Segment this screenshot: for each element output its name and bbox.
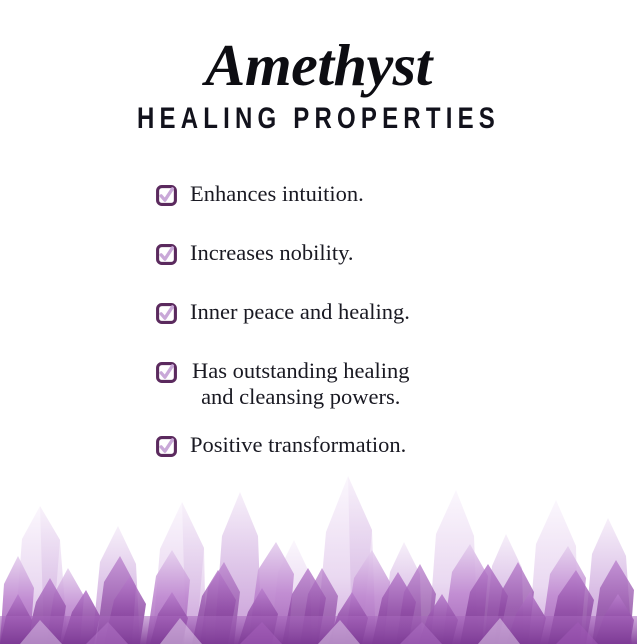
poster-canvas: Amethyst HEALING PROPERTIES Enhances int… <box>0 0 637 644</box>
list-item[interactable]: Increases nobility. <box>156 240 556 266</box>
checkbox-checked-icon[interactable] <box>156 185 177 206</box>
amethyst-crystal-cluster-image <box>0 444 637 644</box>
list-item-label: Increases nobility. <box>190 240 354 266</box>
list-item[interactable]: Has outstanding healing and cleansing po… <box>156 358 556 410</box>
checkbox-checked-icon[interactable] <box>156 244 177 265</box>
checkbox-checked-icon[interactable] <box>156 303 177 324</box>
header: Amethyst HEALING PROPERTIES <box>0 0 637 136</box>
list-item-label: Enhances intuition. <box>190 181 364 207</box>
list-item-label: Inner peace and healing. <box>190 299 410 325</box>
checkbox-checked-icon[interactable] <box>156 362 177 383</box>
page-title: Amethyst <box>0 34 637 96</box>
list-item[interactable]: Inner peace and healing. <box>156 299 556 325</box>
page-subtitle: HEALING PROPERTIES <box>64 102 574 136</box>
list-item[interactable]: Enhances intuition. <box>156 181 556 207</box>
list-item-label: Has outstanding healing and cleansing po… <box>190 358 409 410</box>
